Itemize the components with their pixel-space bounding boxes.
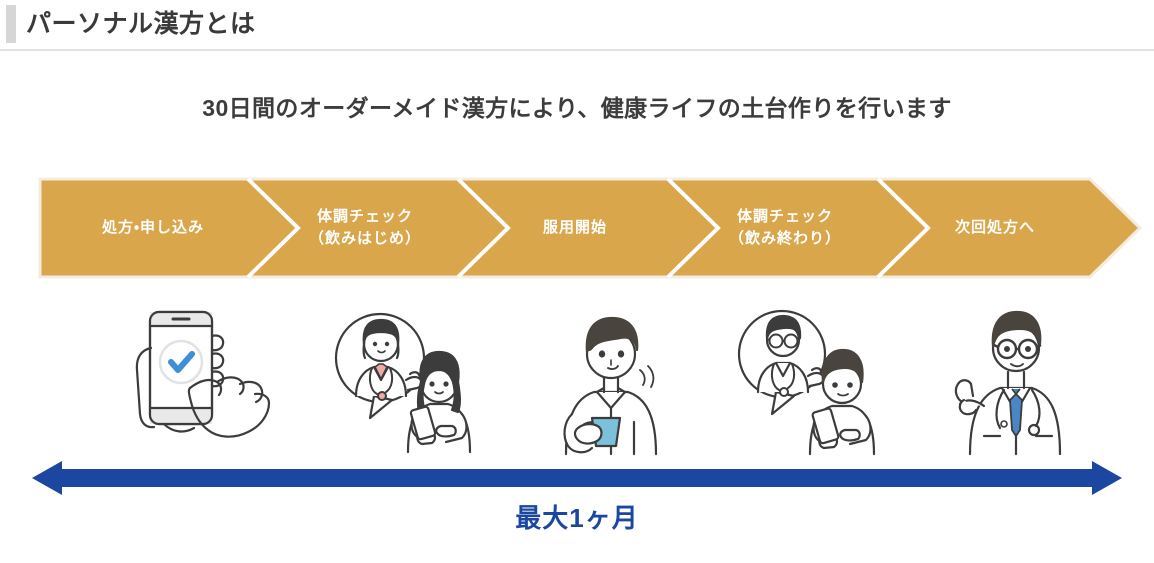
process-bar-fill: [40, 179, 1140, 277]
header-accent-bar: [6, 5, 16, 43]
male-doctor-pointing-up-icon: [940, 296, 1090, 456]
subtitle: 30日間のオーダーメイド漢方により、健康ライフの土台作りを行います: [0, 89, 1154, 123]
female-doctor-and-woman-with-phone-icon: [322, 296, 492, 456]
timeline-arrow: [0, 455, 1154, 501]
page-header: パーソナル漢方とは: [0, 0, 1154, 51]
header-divider: [0, 49, 1154, 51]
illustration-row: [0, 296, 1154, 456]
check-circle: [160, 341, 202, 383]
process-bar-shape: [38, 177, 1142, 279]
double-arrow-icon: [0, 455, 1154, 501]
man-drinking-cup-icon: [542, 296, 692, 456]
duration-label: 最大1ヶ月: [0, 498, 1154, 535]
smartphone-tap-check-icon: [118, 296, 278, 456]
necktie: [1010, 394, 1022, 436]
page-title: パーソナル漢方とは: [26, 5, 256, 43]
process-step-bar: 処方・申し込み 体調チェック （飲みはじめ） 服用開始 体調チェック （飲み終わ…: [38, 177, 1142, 279]
male-doctor-and-man-with-phone-icon: [726, 296, 896, 456]
